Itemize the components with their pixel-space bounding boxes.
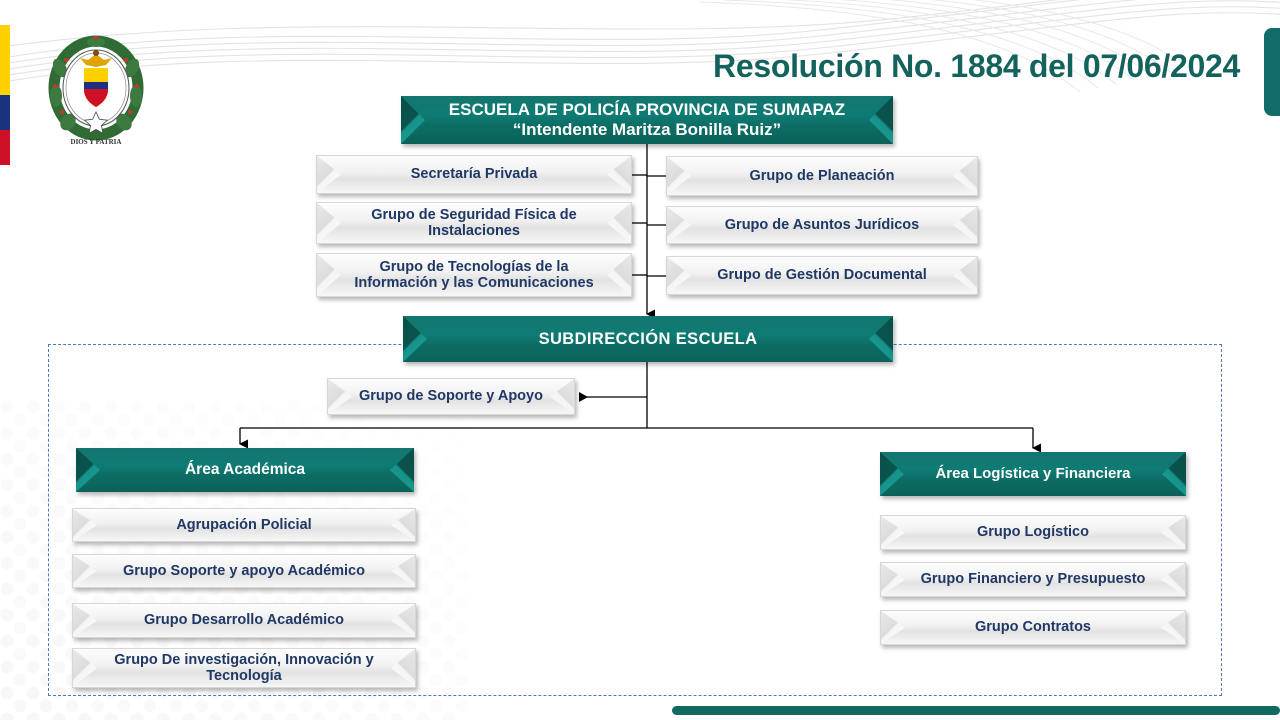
node-grupo-soporte-apoyo-academico[interactable]: Grupo Soporte y apoyo Académico xyxy=(72,554,416,588)
node-grupo-planeacion[interactable]: Grupo de Planeación xyxy=(666,156,978,196)
node-grupo-financiero-presupuesto[interactable]: Grupo Financiero y Presupuesto xyxy=(880,562,1186,597)
node-area-logistica-financiera[interactable]: Área Logística y Financiera xyxy=(880,452,1186,496)
node-escuela-root-label: ESCUELA DE POLICÍA PROVINCIA DE SUMAPAZ … xyxy=(423,100,871,141)
node-subdireccion-escuela[interactable]: SUBDIRECCIÓN ESCUELA xyxy=(403,316,893,362)
node-secretaria-privada[interactable]: Secretaría Privada xyxy=(316,155,632,194)
node-grupo-desarrollo-academico[interactable]: Grupo Desarrollo Académico xyxy=(72,603,416,638)
node-grupo-soporte-apoyo[interactable]: Grupo de Soporte y Apoyo xyxy=(327,378,575,415)
node-area-academica[interactable]: Área Académica xyxy=(76,448,414,492)
node-escuela-root[interactable]: ESCUELA DE POLICÍA PROVINCIA DE SUMAPAZ … xyxy=(401,96,893,144)
node-agrupacion-policial[interactable]: Agrupación Policial xyxy=(72,508,416,542)
node-grupo-seguridad-fisica[interactable]: Grupo de Seguridad Física de Instalacion… xyxy=(316,202,632,244)
node-grupo-logistico[interactable]: Grupo Logístico xyxy=(880,515,1186,550)
node-grupo-contratos[interactable]: Grupo Contratos xyxy=(880,610,1186,645)
node-grupo-asuntos-juridicos[interactable]: Grupo de Asuntos Jurídicos xyxy=(666,206,978,244)
node-grupo-gestion-documental[interactable]: Grupo de Gestión Documental xyxy=(666,256,978,295)
node-grupo-investigacion-innovacion-tecnologia[interactable]: Grupo De investigación, Innovación y Tec… xyxy=(72,648,416,688)
node-grupo-tecnologias-informacion[interactable]: Grupo de Tecnologías de la Información y… xyxy=(316,253,632,297)
